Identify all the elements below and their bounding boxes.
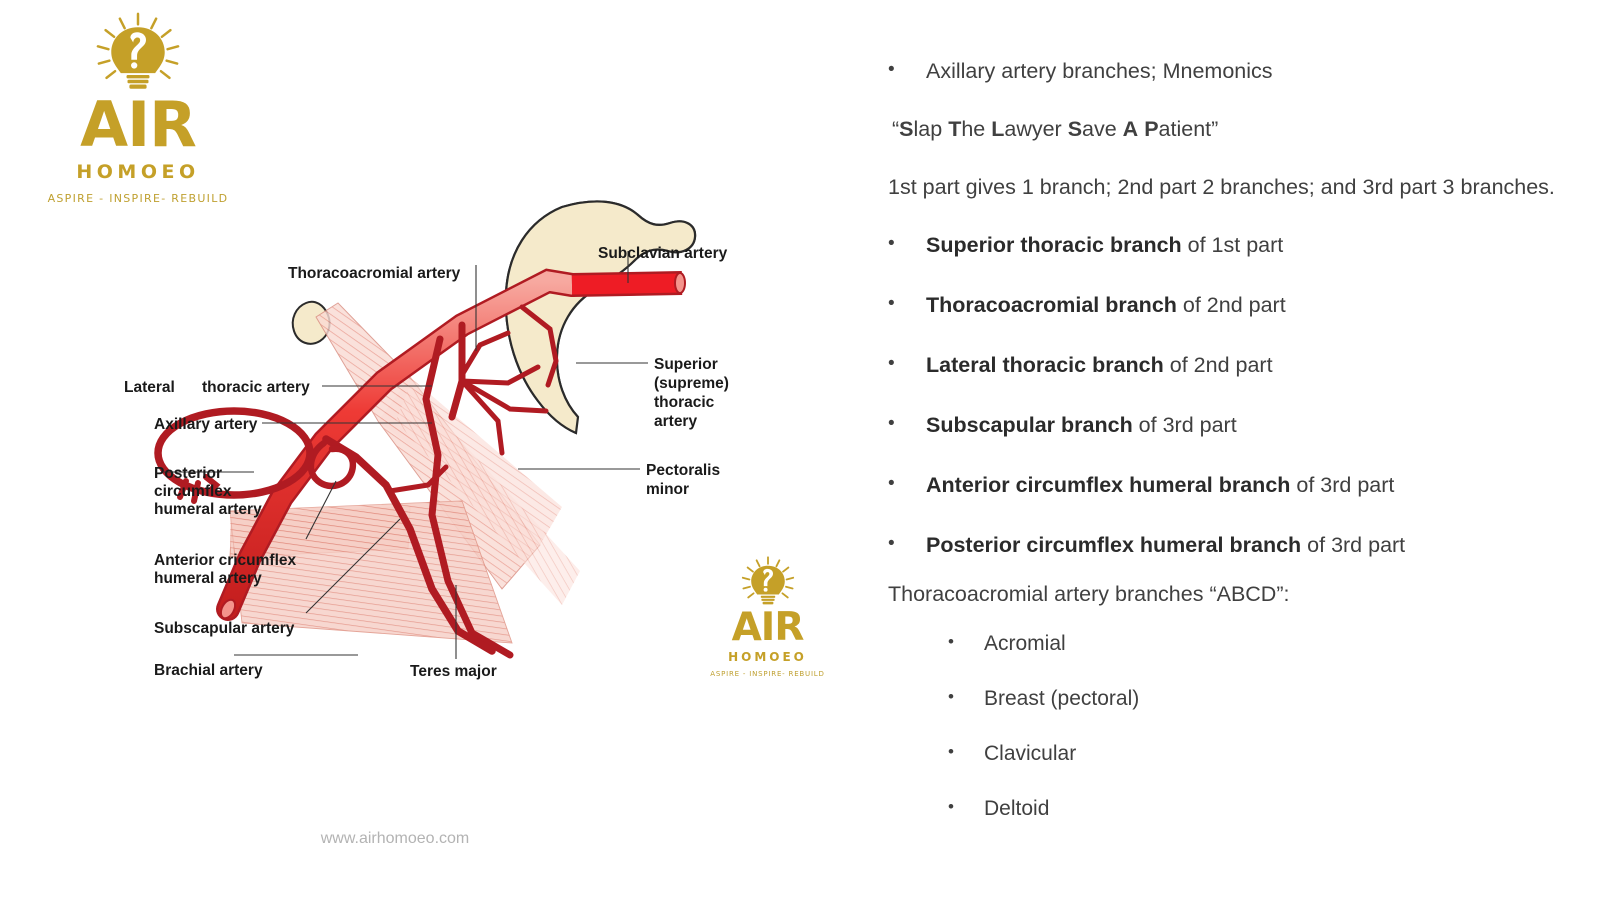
abcd-item: •Acromial [948,632,1568,656]
label-posterior-circumflex-3: humeral artery [154,501,262,518]
label-subclavian-artery: Subclavian artery [598,245,728,262]
abcd-item-label: Deltoid [984,797,1049,821]
brand-logo-watermark: AIR HOMOEO ASPIRE - INSPIRE- REBUILD [705,556,830,678]
anatomy-diagram: Thoracoacromial artery Lateral thoracic … [110,185,790,685]
bullet-glyph: • [948,687,984,707]
label-anterior-circumflex-2: humeral artery [154,570,262,587]
bullet-glyph: • [948,632,984,652]
label-posterior-circumflex-1: Posterior [154,465,222,482]
brand-logo: AIR HOMOEO ASPIRE - INSPIRE- REBUILD [38,12,238,205]
label-lateral-thoracic-2: thoracic artery [202,379,310,396]
label-superior-thoracic-1: Superior [654,356,718,373]
abcd-item: •Deltoid [948,797,1568,821]
branch-row: •Posterior circumflex humeral branch of … [888,532,1568,560]
branch-list: •Superior thoracic branch of 1st part•Th… [888,232,1568,560]
branch-name: Lateral thoracic branch [926,353,1164,377]
branch-row: •Anterior circumflex humeral branch of 3… [888,472,1568,500]
abcd-item: •Clavicular [948,742,1568,766]
branch-text: Anterior circumflex humeral branch of 3r… [926,472,1394,500]
branch-text: Thoracoacromial branch of 2nd part [926,292,1286,320]
label-posterior-circumflex-2: circumflex [154,483,232,500]
bullet-glyph: • [888,412,926,436]
label-teres-major: Teres major [410,663,497,680]
bullet-glyph: • [948,742,984,762]
parts-summary-line: 1st part gives 1 branch; 2nd part 2 bran… [888,174,1568,202]
label-subscapular-artery: Subscapular artery [154,620,295,637]
branch-row: •Superior thoracic branch of 1st part [888,232,1568,260]
intro-bullet-row: • Axillary artery branches; Mnemonics [888,58,1568,86]
branch-text: Posterior circumflex humeral branch of 3… [926,532,1405,560]
site-url: www.airhomoeo.com [321,830,470,847]
bullet-glyph: • [888,232,926,256]
branch-name: Anterior circumflex humeral branch [926,473,1290,497]
lightbulb-question-icon [738,556,798,609]
intro-bullet-text: Axillary artery branches; Mnemonics [926,58,1273,86]
bullet-glyph: • [888,472,926,496]
abcd-item-label: Acromial [984,632,1066,656]
bullet-glyph: • [888,292,926,316]
branch-name: Thoracoacromial branch [926,293,1177,317]
branch-text: Subscapular branch of 3rd part [926,412,1237,440]
abcd-item-label: Clavicular [984,742,1076,766]
label-superior-thoracic-2: (supreme) [654,375,729,392]
bullet-glyph: • [888,58,926,82]
content-panel: • Axillary artery branches; Mnemonics “S… [888,58,1568,821]
label-lateral-thoracic-1: Lateral [124,379,175,396]
branch-row: •Subscapular branch of 3rd part [888,412,1568,440]
bullet-glyph: • [888,352,926,376]
bullet-glyph: • [888,532,926,556]
label-anterior-circumflex-1: Anterior cricumflex [154,552,297,569]
label-brachial-artery: Brachial artery [154,662,263,679]
label-superior-thoracic-4: artery [654,413,697,430]
brand-name: AIR [80,94,196,156]
label-pectoralis-minor-2: minor [646,481,689,498]
label-thoracoacromial-artery: Thoracoacromial artery [288,265,461,282]
bullet-glyph: • [948,797,984,817]
brand-subtitle: HOMOEO [728,650,807,664]
branch-name: Posterior circumflex humeral branch [926,533,1301,557]
abcd-item: •Breast (pectoral) [948,687,1568,711]
abcd-heading: Thoracoacromial artery branches “ABCD”: [888,581,1568,609]
branch-row: •Lateral thoracic branch of 2nd part [888,352,1568,380]
mnemonic-line: “Slap The Lawyer Save A Patient” [892,116,1568,144]
footer-watermark: www.airhomoeo.com [0,830,1600,848]
branch-name: Subscapular branch [926,413,1133,437]
branch-row: •Thoracoacromial branch of 2nd part [888,292,1568,320]
branch-text: Superior thoracic branch of 1st part [926,232,1283,260]
brand-name: AIR [732,608,804,647]
abcd-list: •Acromial•Breast (pectoral)•Clavicular•D… [948,632,1568,821]
brand-subtitle: HOMOEO [76,161,199,183]
label-axillary-artery: Axillary artery [154,416,258,433]
label-pectoralis-minor-1: Pectoralis [646,462,720,479]
label-superior-thoracic-3: thoracic [654,394,715,411]
abcd-item-label: Breast (pectoral) [984,687,1139,711]
lightbulb-question-icon [90,12,186,96]
brand-tagline: ASPIRE - INSPIRE- REBUILD [710,670,824,678]
branch-text: Lateral thoracic branch of 2nd part [926,352,1273,380]
branch-name: Superior thoracic branch [926,233,1182,257]
